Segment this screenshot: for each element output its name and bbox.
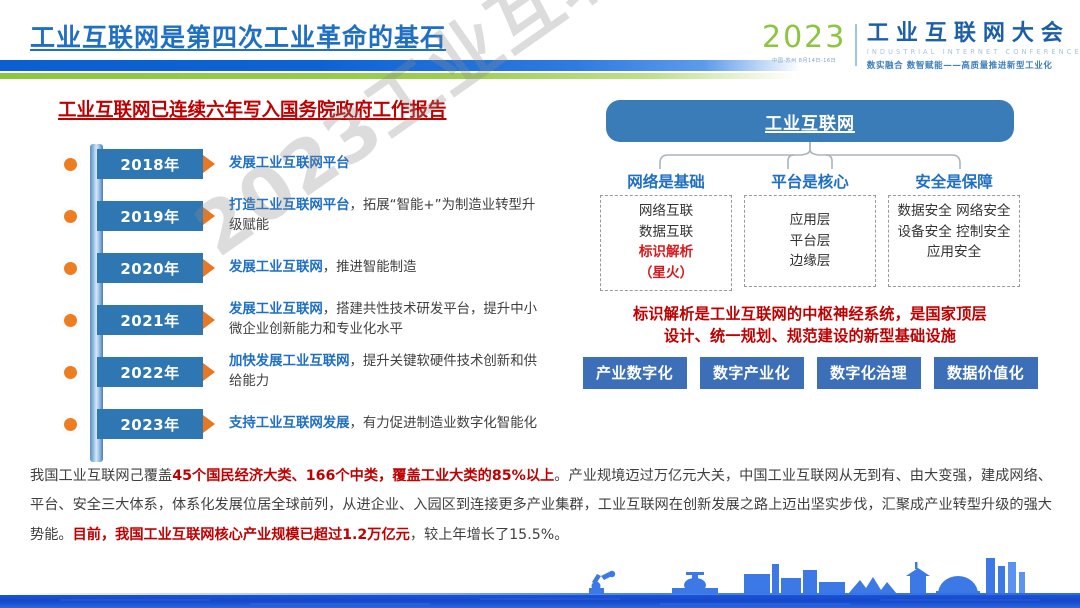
timeline-dot-wrap — [50, 259, 90, 278]
right-panel: 工业互联网 网络是基础网络互联数据互联标识解析（星火）平台是核心应用层平台层边缘… — [560, 100, 1060, 389]
diagram-item: 设备安全 控制安全 — [891, 222, 1017, 243]
chevron-right-icon — [203, 207, 215, 225]
diagram-columns: 网络是基础网络互联数据互联标识解析（星火）平台是核心应用层平台层边缘层安全是保障… — [600, 170, 1020, 291]
diagram-column-title: 安全是保障 — [888, 170, 1020, 192]
timeline-dot-icon — [61, 207, 80, 226]
timeline-description-rest: ，推进智能制造 — [323, 260, 417, 275]
chevron-right-icon — [203, 259, 215, 277]
header-rule-green — [0, 73, 795, 79]
timeline-description-emphasis: 加快发展工业互联网 — [229, 354, 350, 369]
diagram-item: 数据安全 网络安全 — [891, 201, 1017, 222]
timeline-description: 发展工业互联网，推进智能制造 — [229, 258, 548, 278]
timeline-row: 2022年加快发展工业互联网，提升关键软硬件技术创新和供给能力 — [50, 350, 548, 394]
timeline-year-badge[interactable]: 2020年 — [97, 253, 203, 283]
timeline-description: 发展工业互联网，搭建共性技术研发平台，提升中小微企业创新能力和专业化水平 — [229, 300, 548, 340]
paragraph-segment-1: 我国工业互联网己覆盖 — [30, 468, 172, 484]
diagram-item: 边缘层 — [747, 251, 873, 272]
diagram-column: 平台是核心应用层平台层边缘层 — [744, 170, 876, 291]
keyword-tag[interactable]: 数字产业化 — [700, 357, 804, 389]
left-panel-heading: 工业互联网已连续六年写入国务院政府工作报告 — [58, 96, 548, 122]
timeline-dot-icon — [61, 363, 80, 382]
timeline-dot-wrap — [50, 207, 90, 226]
timeline-rows: 2018年发展工业互联网平台2019年打造工业互联网平台，拓展“智能+”为制造业… — [50, 142, 548, 446]
timeline-description: 加快发展工业互联网，提升关键软硬件技术创新和供给能力 — [229, 352, 548, 392]
timeline-year-label: 2022年 — [120, 362, 179, 383]
diagram-column-box: 应用层平台层边缘层 — [744, 195, 876, 287]
slide-canvas: 工业互联网是第四次工业革命的基石 2023 中国·苏州 8月14日-16日 工业… — [0, 0, 1080, 608]
timeline-dot-icon — [61, 259, 80, 278]
tag-row: 产业数字化数字产业化数字化治理数据价值化 — [583, 357, 1038, 389]
diagram-item-highlight: （星火） — [603, 263, 729, 284]
diagram-item: 应用安全 — [891, 242, 1017, 263]
logo-year: 2023 — [762, 22, 846, 54]
diagram-column: 安全是保障数据安全 网络安全设备安全 控制安全应用安全 — [888, 170, 1020, 291]
timeline-year-badge[interactable]: 2022年 — [97, 357, 203, 387]
logo-name-cn: 工业互联网大会 — [867, 22, 1080, 46]
left-panel: 工业互联网已连续六年写入国务院政府工作报告 2018年发展工业互联网平台2019… — [28, 96, 548, 454]
diagram-root-label: 工业互联网 — [765, 109, 855, 134]
timeline-dot-icon — [61, 311, 80, 330]
timeline-year-label: 2023年 — [120, 414, 179, 435]
logo-name-block: 工业互联网大会 INDUSTRIAL INTERNET CONFERENCE 数… — [857, 22, 1080, 71]
diagram-column: 网络是基础网络互联数据互联标识解析（星火） — [600, 170, 732, 291]
timeline-dot-icon — [61, 415, 80, 434]
paragraph-segment-3: ，较上年增长了15.5%。 — [410, 527, 569, 543]
logo-slogan: 数实融合 数智赋能——高质量推进新型工业化 — [867, 59, 1080, 71]
timeline-dot-wrap — [50, 311, 90, 330]
diagram-item-highlight: 标识解析 — [603, 242, 729, 263]
timeline-row: 2023年支持工业互联网发展，有力促进制造业数字化智能化 — [50, 402, 548, 446]
paragraph-highlight-1: 45个国民经济大类、166个中类，覆盖工业大类的85%以上 — [172, 468, 554, 484]
timeline-row: 2020年发展工业互联网，推进智能制造 — [50, 246, 548, 290]
red-note-line-1: 标识解析是工业互联网的中枢神经系统，是国家顶层 — [560, 303, 1060, 326]
logo-name-en: INDUSTRIAL INTERNET CONFERENCE — [867, 48, 1080, 56]
logo-date-line: 中国·苏州 8月14日-16日 — [762, 57, 846, 64]
timeline-description-emphasis: 发展工业互联网 — [229, 302, 323, 317]
timeline-description-emphasis: 打造工业互联网平台 — [229, 198, 350, 213]
timeline-row: 2019年打造工业互联网平台，拓展“智能+”为制造业转型升级赋能 — [50, 194, 548, 238]
timeline-year-badge[interactable]: 2021年 — [97, 305, 203, 335]
diagram-column-box: 数据安全 网络安全设备安全 控制安全应用安全 — [888, 195, 1020, 287]
diagram-item: 网络互联 — [603, 201, 729, 222]
diagram-connector-lines — [606, 142, 1014, 170]
timeline-dot-wrap — [50, 155, 90, 174]
diagram-column-title: 网络是基础 — [600, 170, 732, 192]
timeline-dot-wrap — [50, 415, 90, 434]
header-rule-blue — [0, 60, 800, 71]
red-note: 标识解析是工业互联网的中枢神经系统，是国家顶层 设计、统一规划、规范建设的新型基… — [560, 303, 1060, 348]
timeline-description-rest: ，有力促进制造业数字化智能化 — [350, 416, 537, 431]
keyword-tag[interactable]: 产业数字化 — [583, 357, 687, 389]
keyword-tag[interactable]: 数字化治理 — [817, 357, 921, 389]
diagram-item: 应用层 — [747, 210, 873, 231]
chevron-right-icon — [203, 415, 215, 433]
keyword-tag[interactable]: 数据价值化 — [934, 357, 1038, 389]
diagram-column-box: 网络互联数据互联标识解析（星火） — [600, 195, 732, 291]
footer-skyline — [0, 552, 1080, 608]
bottom-paragraph: 我国工业互联网己覆盖45个国民经济大类、166个中类，覆盖工业大类的85%以上。… — [30, 462, 1052, 550]
timeline-year-badge[interactable]: 2018年 — [97, 149, 203, 179]
timeline-row: 2018年发展工业互联网平台 — [50, 142, 548, 186]
conference-logo: 2023 中国·苏州 8月14日-16日 工业互联网大会 INDUSTRIAL … — [762, 22, 1080, 80]
page-title: 工业互联网是第四次工业革命的基石 — [30, 18, 446, 54]
timeline-year-label: 2018年 — [120, 154, 179, 175]
timeline-year-badge[interactable]: 2023年 — [97, 409, 203, 439]
chevron-right-icon — [203, 155, 215, 173]
timeline-year-label: 2019年 — [120, 206, 179, 227]
timeline-dot-icon — [61, 155, 80, 174]
diagram-root-node: 工业互联网 — [606, 100, 1014, 142]
timeline-year-label: 2020年 — [120, 258, 179, 279]
red-note-line-2: 设计、统一规划、规范建设的新型基础设施 — [560, 325, 1060, 348]
timeline-description-emphasis: 发展工业互联网 — [229, 260, 323, 275]
skyline-graphic — [0, 552, 1080, 608]
chevron-right-icon — [203, 311, 215, 329]
timeline-description: 支持工业互联网发展，有力促进制造业数字化智能化 — [229, 414, 548, 434]
timeline-year-label: 2021年 — [120, 310, 179, 331]
timeline-description-emphasis: 发展工业互联网平台 — [229, 156, 350, 171]
chevron-right-icon — [203, 363, 215, 381]
diagram-item: 平台层 — [747, 231, 873, 252]
paragraph-highlight-2: 目前，我国工业互联网核心产业规模已超过1.2万亿元 — [73, 527, 410, 543]
timeline-description: 打造工业互联网平台，拓展“智能+”为制造业转型升级赋能 — [229, 196, 548, 236]
timeline-description-emphasis: 支持工业互联网发展 — [229, 416, 350, 431]
logo-year-block: 2023 中国·苏州 8月14日-16日 — [762, 22, 855, 64]
diagram-item: 数据互联 — [603, 222, 729, 243]
timeline-dot-wrap — [50, 363, 90, 382]
timeline-list: 2018年发展工业互联网平台2019年打造工业互联网平台，拓展“智能+”为制造业… — [28, 142, 548, 446]
timeline-description: 发展工业互联网平台 — [229, 154, 548, 174]
diagram-column-title: 平台是核心 — [744, 170, 876, 192]
timeline-year-badge[interactable]: 2019年 — [97, 201, 203, 231]
timeline-row: 2021年发展工业互联网，搭建共性技术研发平台，提升中小微企业创新能力和专业化水… — [50, 298, 548, 342]
